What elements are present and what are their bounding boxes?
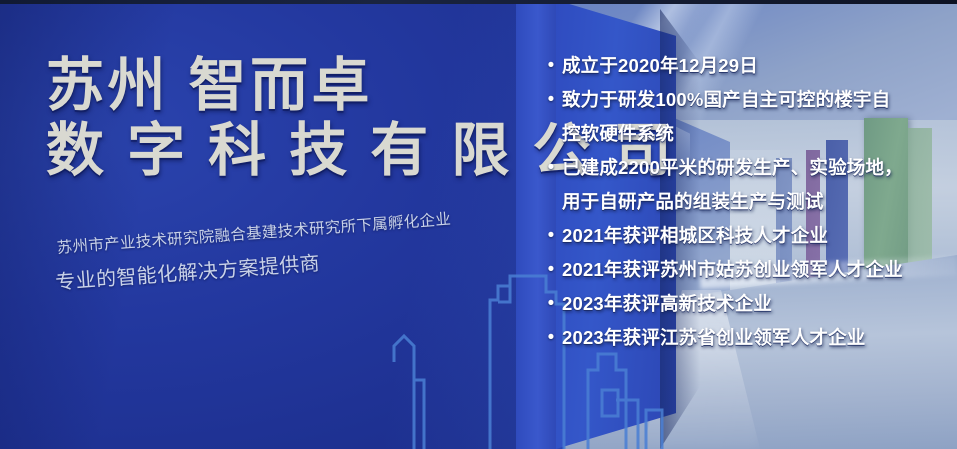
- top-edge-trim: [0, 0, 957, 4]
- list-item: • 成立于2020年12月29日: [540, 50, 957, 82]
- bullet-dot-icon: •: [540, 152, 562, 184]
- list-item-text: 已建成2200平米的研发生产、实验场地，: [562, 152, 903, 184]
- list-item: • 致力于研发100%国产自主可控的楼宇自: [540, 84, 957, 116]
- list-item-text: 2023年获评高新技术企业: [562, 288, 772, 320]
- list-item-text: 2021年获评相城区科技人才企业: [562, 220, 828, 252]
- company-name-line-2: 数 字 科 技 有 限 公 司: [46, 121, 546, 180]
- bullet-dot-icon: •: [540, 288, 562, 320]
- bullet-dot-icon: •: [540, 322, 562, 354]
- list-item-text: 2021年获评苏州市姑苏创业领军人才企业: [562, 254, 903, 286]
- list-item: • 2023年获评江苏省创业领军人才企业: [540, 322, 957, 354]
- list-item: • 2021年获评相城区科技人才企业: [540, 220, 957, 252]
- bullet-dot-icon: •: [540, 84, 562, 116]
- list-item: • 2021年获评苏州市姑苏创业领军人才企业: [540, 254, 957, 286]
- list-item-continuation: • 用于自研产品的组装生产与测试: [540, 186, 957, 218]
- list-item: • 已建成2200平米的研发生产、实验场地，: [540, 152, 957, 184]
- list-item-continuation: • 控软硬件系统: [540, 118, 957, 150]
- bullet-dot-icon: •: [540, 50, 562, 82]
- slide-canvas: 苏州 智而卓 数 字 科 技 有 限 公 司 苏州市产业技术研究院融合基建技术研…: [0, 0, 957, 449]
- list-item-text: 2023年获评江苏省创业领军人才企业: [562, 322, 866, 354]
- list-item-text: 控软硬件系统: [562, 118, 674, 150]
- list-item: • 2023年获评高新技术企业: [540, 288, 957, 320]
- list-item-text: 致力于研发100%国产自主可控的楼宇自: [562, 84, 890, 116]
- company-highlights-list: • 成立于2020年12月29日 • 致力于研发100%国产自主可控的楼宇自 •…: [540, 50, 957, 356]
- bullet-dot-icon: •: [540, 254, 562, 286]
- company-logo-lockup: 苏州 智而卓 数 字 科 技 有 限 公 司: [46, 56, 546, 180]
- list-item-text: 成立于2020年12月29日: [562, 50, 758, 82]
- list-item-text: 用于自研产品的组装生产与测试: [562, 186, 824, 218]
- bullet-dot-icon: •: [540, 220, 562, 252]
- company-name-line-1: 苏州 智而卓: [46, 56, 546, 115]
